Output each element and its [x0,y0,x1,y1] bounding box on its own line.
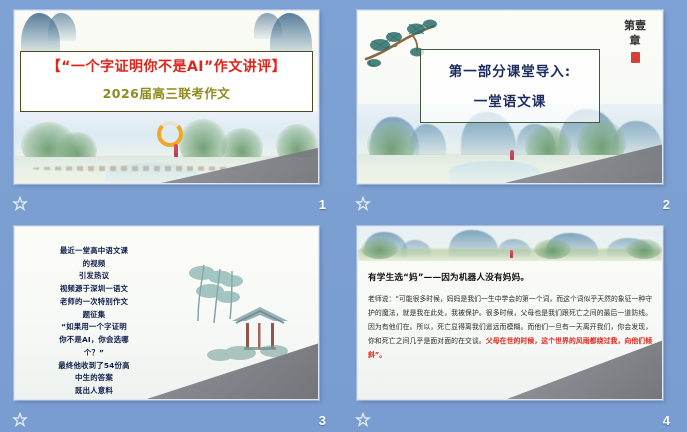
text-line: 既出人意料 [29,385,159,398]
slide-1-landscape [15,111,318,183]
text-line: 最终他收到了54份高 [29,360,159,373]
tree-shape [361,238,397,259]
slide-1-title-box: 【“一个字证明你不是AI”作文讲评】 2026届高三联考作文 [20,51,313,112]
pavilion-illustration [174,259,294,369]
stone-path [33,166,239,171]
mountain-shape [254,13,281,39]
slide-thumbnail-grid: 【“一个字证明你不是AI”作文讲评】 2026届高三联考作文 1 [0,0,687,432]
slide-cell-4[interactable]: 有学生选“妈”——因为机器人没有妈妈。 老师说：“可能很多时候，妈妈是我们一生中… [343,216,687,432]
slide-1[interactable]: 【“一个字证明你不是AI”作文讲评】 2026届高三联考作文 [14,10,319,184]
slide-2[interactable]: 第壹章 第一部分课堂导入: [357,10,663,184]
slide-cell-3[interactable]: 最近一堂高中语文课 的视频 引发热议 视频源于深圳一语文 老师的一次特别作文 题… [0,216,343,432]
text-line: 的视频 [29,258,159,271]
text-line: “如果用一个字证明 [29,321,159,334]
text-line: 个？” [29,347,159,360]
slide-4-mountain-band [358,227,662,261]
slide-4[interactable]: 有学生选“妈”——因为机器人没有妈妈。 老师说：“可能很多时候，妈妈是我们一生中… [357,226,663,400]
slide-number: 2 [663,198,670,211]
text-line: 视频源于深圳一语文 [29,283,159,296]
star-icon[interactable] [355,412,371,428]
slide-number: 4 [663,414,670,427]
section-subtitle: 一堂语文课 [427,90,593,110]
text-line: 最近一堂高中语文课 [29,245,159,258]
person-figure [510,250,513,258]
slide-4-paragraph: 老师说：“可能很多时候，妈妈是我们一生中学会的第一个词，而这个词似乎天然的象征一… [368,293,652,363]
slide-cell-2[interactable]: 第壹章 第一部分课堂导入: [343,0,687,216]
page-subtitle: 2026届高三联考作文 [25,83,308,102]
slide-cell-1[interactable]: 【“一个字证明你不是AI”作文讲评】 2026届高三联考作文 1 [0,0,343,216]
slide-4-heading: 有学生选“妈”——因为机器人没有妈妈。 [368,271,652,283]
star-icon[interactable] [355,196,371,212]
slide-4-text-block: 有学生选“妈”——因为机器人没有妈妈。 老师说：“可能很多时候，妈妈是我们一生中… [368,271,652,363]
text-line: 又直击人心 [29,398,159,400]
text-line: 你不是AI，你会选哪 [29,334,159,347]
person-figure [510,150,514,160]
slide-number: 3 [319,414,326,427]
star-icon[interactable] [12,412,28,428]
seal-text: 第壹章 [624,19,646,49]
mountain-shape [48,13,75,41]
star-icon[interactable] [12,196,28,212]
section-title: 第一部分课堂导入: [427,60,593,80]
text-line: 题征集 [29,309,159,322]
text-line: 中生的答案 [29,372,159,385]
tree-shape [626,239,662,259]
tree-shape [534,239,570,259]
text-line: 老师的一次特别作文 [29,296,159,309]
text-line: 引发热议 [29,270,159,283]
red-seal-stamp-icon [631,52,640,63]
slide-2-title-box: 第一部分课堂导入: 一堂语文课 [420,49,600,123]
chapter-seal: 第壹章 [624,19,646,63]
slide-number: 1 [319,198,326,211]
page-title: 【“一个字证明你不是AI”作文讲评】 [25,59,308,76]
slide-3-text-block: 最近一堂高中语文课 的视频 引发热议 视频源于深圳一语文 老师的一次特别作文 题… [29,245,159,400]
slide-3[interactable]: 最近一堂高中语文课 的视频 引发热议 视频源于深圳一语文 老师的一次特别作文 题… [14,226,319,400]
person-figure [174,144,178,157]
